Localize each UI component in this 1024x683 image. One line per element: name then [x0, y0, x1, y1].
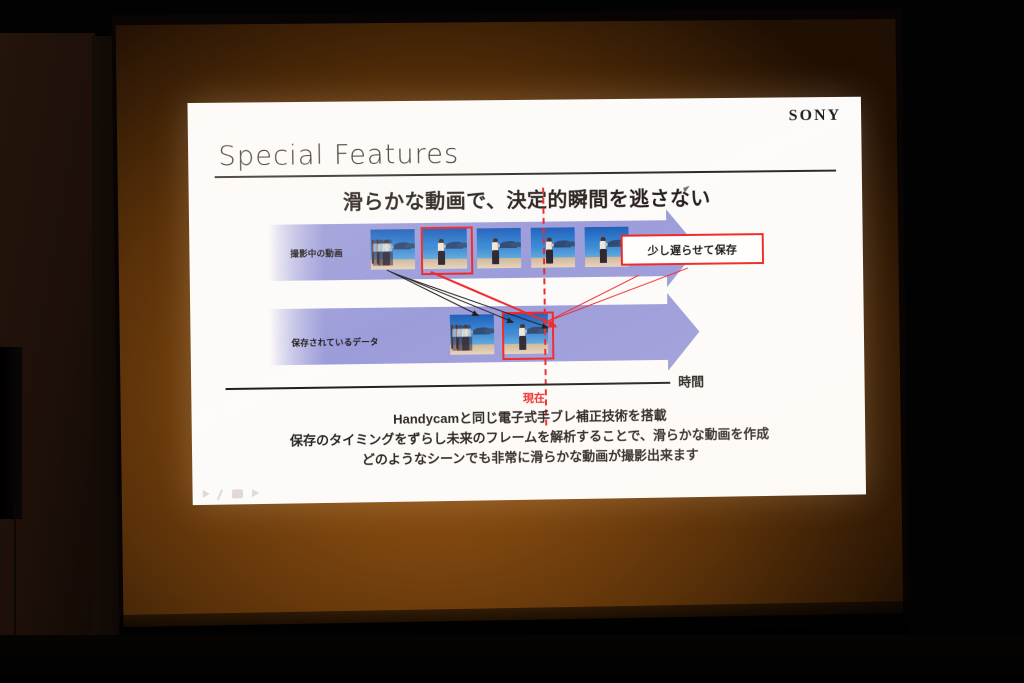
next-slide-icon[interactable]	[252, 489, 259, 497]
slide-menu-icon[interactable]	[232, 489, 243, 498]
pen-icon[interactable]	[217, 489, 225, 501]
callout-box: 少し遅らせて保存	[621, 233, 764, 266]
pointer-icon[interactable]	[203, 490, 210, 498]
presenter-toolbar[interactable]	[203, 489, 260, 501]
auditorium-room: SONY Special Features 滑らかな動画で、決定的瞬間を逃さない…	[0, 0, 1024, 683]
band-saved-arrowhead	[667, 293, 700, 371]
film-frame	[531, 227, 575, 267]
band-saved-label: 保存されているデータ	[291, 336, 378, 349]
wall-speaker	[0, 347, 22, 519]
time-axis-label: 時間	[678, 371, 704, 390]
projection-screen: SONY Special Features 滑らかな動画で、決定的瞬間を逃さない…	[111, 9, 909, 649]
floor	[0, 635, 1024, 683]
film-frame	[370, 229, 415, 270]
page-title: Special Features	[218, 139, 459, 173]
slide-subtitle: 滑らかな動画で、決定的瞬間を逃さない	[189, 180, 863, 216]
timeline-diagram: 撮影中の動画 保存されているデータ	[189, 214, 865, 401]
time-axis	[226, 382, 671, 390]
body-paragraph: Handycamと同じ電子式手ブレ補正技術を搭載 保存のタイミングをずらし未来の…	[192, 403, 866, 473]
sony-logo: SONY	[789, 107, 842, 125]
now-label: 現在	[523, 390, 545, 406]
selected-frame-highlight	[421, 226, 474, 275]
band-recording-label: 撮影中の動画	[290, 247, 343, 260]
presentation-slide[interactable]: SONY Special Features 滑らかな動画で、決定的瞬間を逃さない…	[187, 97, 866, 505]
film-frame	[450, 314, 495, 355]
film-frame	[477, 228, 522, 269]
